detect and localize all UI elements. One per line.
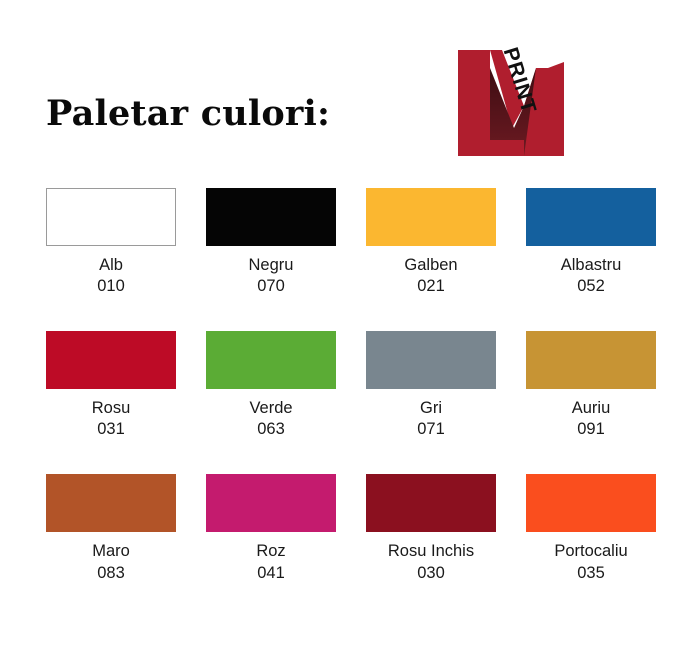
swatch-rosu-inchis[interactable]: Rosu Inchis 030 (366, 474, 496, 583)
swatch-albastru[interactable]: Albastru 052 (526, 188, 656, 297)
swatch-name: Rosu Inchis (388, 541, 474, 562)
swatch-verde[interactable]: Verde 063 (206, 331, 336, 440)
swatch-code: 035 (577, 563, 605, 584)
swatch-name: Rosu (92, 398, 131, 419)
swatch-code: 083 (97, 563, 125, 584)
swatch-roz[interactable]: Roz 041 (206, 474, 336, 583)
swatch-chip[interactable] (206, 188, 336, 246)
swatch-chip[interactable] (366, 188, 496, 246)
swatch-chip[interactable] (46, 188, 176, 246)
brand-logo: PRINT (424, 28, 574, 173)
swatch-portocaliu[interactable]: Portocaliu 035 (526, 474, 656, 583)
swatch-name: Alb (99, 255, 123, 276)
header: Paletar culori: PRINT (0, 0, 700, 178)
swatch-name: Maro (92, 541, 130, 562)
swatch-name: Negru (249, 255, 294, 276)
swatch-chip[interactable] (366, 474, 496, 532)
swatch-gri[interactable]: Gri 071 (366, 331, 496, 440)
swatch-name: Portocaliu (554, 541, 627, 562)
swatch-code: 052 (577, 276, 605, 297)
swatch-alb[interactable]: Alb 010 (46, 188, 176, 297)
swatch-name: Auriu (572, 398, 611, 419)
swatch-name: Galben (404, 255, 457, 276)
swatch-code: 071 (417, 419, 445, 440)
swatch-negru[interactable]: Negru 070 (206, 188, 336, 297)
swatch-chip[interactable] (366, 331, 496, 389)
swatch-chip[interactable] (206, 474, 336, 532)
swatch-code: 010 (97, 276, 125, 297)
swatch-code: 063 (257, 419, 285, 440)
swatch-chip[interactable] (526, 188, 656, 246)
swatch-code: 070 (257, 276, 285, 297)
swatch-chip[interactable] (526, 474, 656, 532)
swatch-maro[interactable]: Maro 083 (46, 474, 176, 583)
swatch-chip[interactable] (206, 331, 336, 389)
swatch-auriu[interactable]: Auriu 091 (526, 331, 656, 440)
swatch-code: 031 (97, 419, 125, 440)
swatch-name: Roz (256, 541, 285, 562)
swatch-chip[interactable] (46, 331, 176, 389)
swatch-code: 030 (417, 563, 445, 584)
swatch-code: 041 (257, 563, 285, 584)
swatch-chip[interactable] (526, 331, 656, 389)
swatch-galben[interactable]: Galben 021 (366, 188, 496, 297)
swatch-name: Albastru (561, 255, 622, 276)
swatch-chip[interactable] (46, 474, 176, 532)
color-palette-grid: Alb 010 Negru 070 Galben 021 Albastru 05… (46, 188, 656, 584)
page-title: Paletar culori: (46, 96, 330, 131)
swatch-name: Verde (249, 398, 292, 419)
swatch-name: Gri (420, 398, 442, 419)
swatch-code: 021 (417, 276, 445, 297)
swatch-code: 091 (577, 419, 605, 440)
swatch-rosu[interactable]: Rosu 031 (46, 331, 176, 440)
